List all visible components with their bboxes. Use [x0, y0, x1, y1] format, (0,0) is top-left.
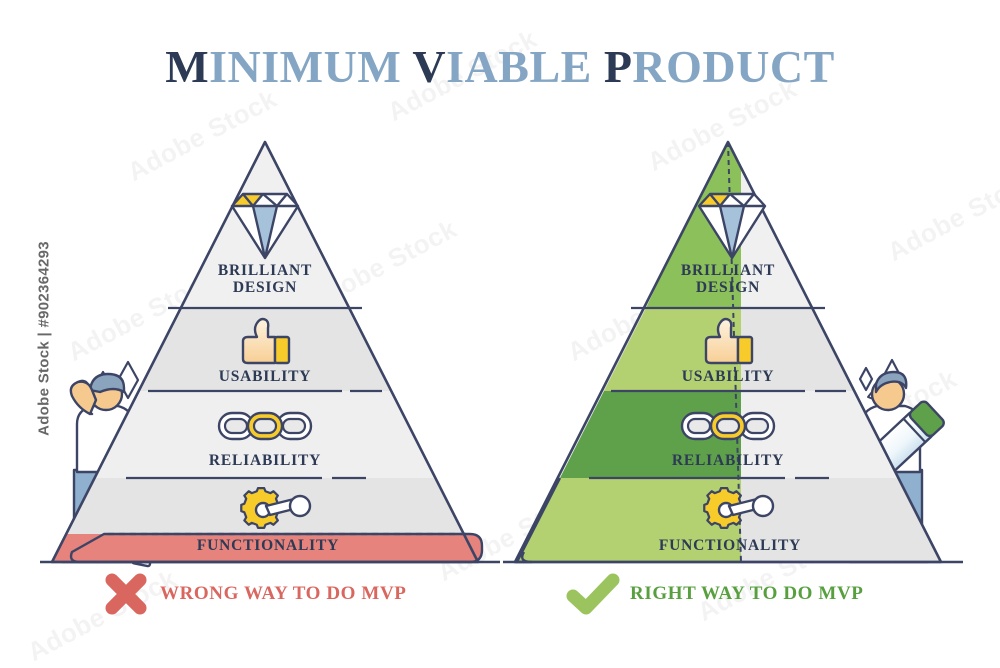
left-level-label-functionality: FUNCTIONALITY	[168, 537, 368, 554]
hair	[90, 374, 124, 392]
wrong-way-caption: WRONG WAY TO DO MVP	[160, 583, 406, 605]
artwork-layer	[0, 0, 1000, 667]
chain-links-icon	[219, 413, 311, 439]
left-level-label-brilliant-design: BRILLIANT DESIGN	[185, 262, 345, 297]
right-level-label-usability: USABILITY	[648, 368, 808, 385]
sparkle-icon	[860, 368, 872, 390]
right-level-label-functionality: FUNCTIONALITY	[630, 537, 830, 554]
chain-links-icon	[682, 413, 774, 439]
right-way-pyramid[interactable]	[500, 140, 963, 562]
cross-icon	[112, 580, 140, 608]
infographic-canvas: Adobe Stock Adobe Stock Adobe Stock Adob…	[0, 0, 1000, 667]
checkmark-icon	[573, 580, 613, 608]
right-way-caption: RIGHT WAY TO DO MVP	[630, 583, 863, 605]
wrong-way-pyramid[interactable]	[40, 140, 500, 564]
left-level-label-reliability: RELIABILITY	[185, 452, 345, 469]
right-level-label-reliability: RELIABILITY	[648, 452, 808, 469]
stock-watermark: Adobe Stock | #902364293	[36, 209, 53, 469]
left-level-label-usability: USABILITY	[185, 368, 345, 385]
right-level-label-brilliant-design: BRILLIANT DESIGN	[648, 262, 808, 297]
